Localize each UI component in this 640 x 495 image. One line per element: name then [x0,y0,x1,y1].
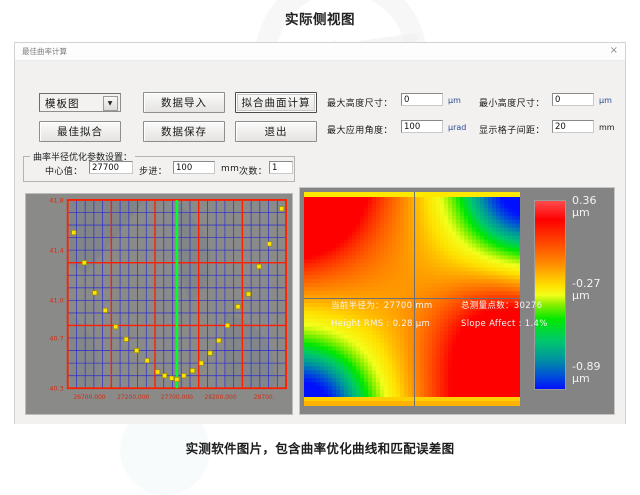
window-title: 最佳曲率计算 [22,46,67,57]
svg-text:26700.000: 26700.000 [73,394,105,401]
colorbar-mid-label: -0.27 μm [572,278,600,302]
colorbar-min-label: -0.89 μm [572,361,600,385]
template-select[interactable]: 模板图 ▼ [39,93,121,112]
svg-text:41.0: 41.0 [49,297,63,305]
curvature-optimization-chart[interactable]: 41.841.441.040.740.326700.00027200.00027… [25,193,293,415]
app-window: 最佳曲率计算 × 模板图 ▼ 数据导入 拟合曲面计算 最佳拟合 数据保存 退出 … [14,42,626,424]
page-title: 实际侧视图 [0,8,640,28]
svg-text:40.3: 40.3 [49,385,63,393]
exit-button[interactable]: 退出 [235,121,317,142]
svg-text:28700.: 28700. [254,394,275,401]
count-input[interactable]: 1 [269,161,293,174]
center-value-label: 中心值： [45,164,83,177]
fit-surface-calc-button[interactable]: 拟合曲面计算 [235,92,317,113]
template-select-value: 模板图 [45,96,80,111]
total-points-status: 总测量点数：30276 [461,299,542,311]
colorbar-max-label: 0.36 μm [572,195,597,219]
data-save-button[interactable]: 数据保存 [143,121,225,142]
grid-spacing-input[interactable]: 20 [552,120,594,133]
max-height-size-label: 最大高度尺寸： [327,96,393,109]
min-height-size-label: 最小高度尺寸： [479,96,545,109]
svg-text:41.4: 41.4 [49,247,63,255]
scatter-svg: 41.841.441.040.740.326700.00027200.00027… [26,194,292,414]
max-apply-angle-input[interactable]: 100 [401,120,443,133]
chevron-down-icon[interactable]: ▼ [103,96,118,111]
data-import-button[interactable]: 数据导入 [143,92,225,113]
slope-affect-status: Slope Affect : 1.4% [461,319,548,329]
colorbar-min-unit: μm [572,372,590,385]
svg-text:41.8: 41.8 [49,196,63,204]
count-label: 次数： [239,164,267,177]
svg-text:40.7: 40.7 [49,334,63,342]
max-height-size-unit: μm [448,96,461,105]
current-radius-status: 当前半径为：27700 mm [331,299,433,311]
colorbar [534,200,566,390]
svg-text:27200.000: 27200.000 [117,394,149,401]
best-fit-button[interactable]: 最佳拟合 [39,121,121,142]
min-height-size-input[interactable]: 0 [552,93,594,106]
colorbar-mid-unit: μm [572,289,590,302]
step-unit: mm [221,164,239,174]
min-height-size-unit: μm [599,96,612,105]
max-height-size-input[interactable]: 0 [401,93,443,106]
grid-spacing-label: 显示格子间距： [479,123,545,136]
center-value-input[interactable]: 27700 [89,161,133,174]
max-apply-angle-unit: μrad [448,123,466,132]
step-input[interactable]: 100 [173,161,215,174]
svg-text:28200.000: 28200.000 [204,394,236,401]
figure-caption: 实测软件图片，包含曲率优化曲线和匹配误差图 [0,438,640,457]
height-rms-status: Height RMS : 0.28 μm [331,319,430,329]
title-bar: 最佳曲率计算 × [15,43,625,61]
grid-spacing-unit: mm [599,123,615,132]
step-label: 步进： [139,164,167,177]
close-icon[interactable]: × [610,44,618,58]
colorbar-max-unit: μm [572,206,590,219]
max-apply-angle-label: 最大应用角度： [327,123,393,136]
svg-text:27700.000: 27700.000 [161,394,193,401]
window-client-area: 模板图 ▼ 数据导入 拟合曲面计算 最佳拟合 数据保存 退出 最大高度尺寸： 0… [15,61,625,424]
